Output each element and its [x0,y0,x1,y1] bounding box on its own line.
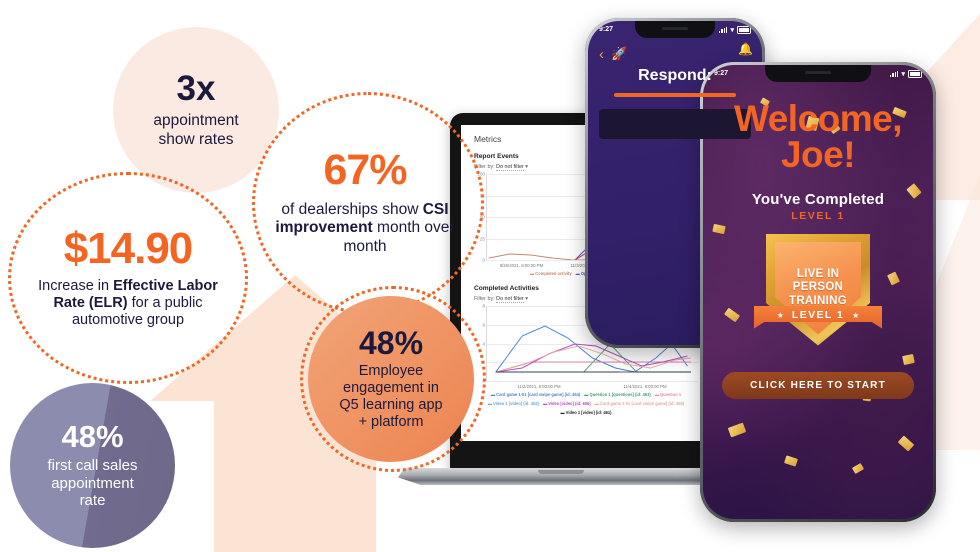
y-tick: 6 [482,322,485,327]
phone-mockup-front: 9:27 ▾ [700,62,936,522]
stat-description: first call sales appointment rate [47,457,137,510]
x-tick: 8/26/2021, 8:00:00 PM [500,263,543,268]
stat-line-4: + platform [339,414,442,431]
y-tick: 8 [482,304,485,309]
status-icons: ▾ [890,70,922,78]
stat-description: of dealerships show CSI improvement mont… [260,201,470,256]
stat-appointment-show-rates: 3x appointment show rates [113,27,279,193]
back-chevron-icon[interactable]: ‹ [599,47,604,62]
filter-label: Filter by: [474,296,495,302]
legend-item: ▬ Completed activity [530,271,572,276]
stat-value: 48% [359,327,423,359]
ribbon-label: LEVEL 1 [792,309,844,321]
infographic-stage: Metrics Report Events Filter by: Do not … [0,0,980,552]
stat-line-1: appointment [153,112,238,130]
series-video-606 [496,344,688,372]
click-here-to-start-button[interactable]: CLICK HERE TO START [722,372,914,399]
wifi-icon: ▾ [901,70,905,78]
battery-icon [908,70,922,78]
completed-text: You've Completed [752,191,884,208]
badge-line-2: PERSON [789,281,847,295]
stat-line-2: engagement in [339,380,442,397]
legend-item: ▬ Question 1 [655,392,681,397]
battery-icon [737,26,751,34]
stat-line-3: Q5 learning app [339,397,442,414]
status-bar: 9:27 ▾ [703,65,933,82]
legend-item: ▬ Video 1 [video] (id: 461) [560,410,611,415]
signal-icon [719,27,728,33]
stat-line-1: Employee [339,363,442,380]
status-time: 9:27 [599,26,613,33]
stat-value: $14.90 [64,227,193,271]
signal-icon [890,71,899,77]
phone-screen-front: 9:27 ▾ [703,65,933,519]
welcome-line-1: Welcome, [734,101,902,137]
wifi-icon: ▾ [730,26,734,34]
achievement-badge[interactable]: LIVE IN PERSON TRAINING ★ LEVEL 1 ★ [766,234,870,346]
series-card-game-455 [496,346,691,372]
stat-line-1: first call sales [47,457,137,475]
y-tick: 4 [482,341,485,346]
status-time: 9:27 [714,70,728,77]
x-tick: 11/2/2021, 8:00:00 PM [517,384,560,389]
welcome-screen: Welcome, Joe! You've Completed LEVEL 1 L… [703,65,933,519]
y-tick: 25 [480,236,485,241]
stat-description: appointment show rates [153,112,238,149]
completed-activities-x-labels: 11/2/2021, 8:00:00 PM 11/4/2021, 8:00:00… [486,384,698,389]
rocket-icon: 🚀 [611,46,627,62]
badge-text: LIVE IN PERSON TRAINING [789,268,847,309]
laptop-notch [538,470,584,474]
stat-line-3: rate [47,492,137,510]
welcome-line-2: Joe! [734,137,902,173]
stat-effective-labor-rate: $14.90 Increase in Effective Labor Rate … [8,172,248,384]
stat-csi-improvement: 67% of dealerships show CSI improvement … [250,95,480,310]
stat-value: 67% [323,149,406,192]
x-tick: 11/4/2021, 8:00:00 PM [623,384,666,389]
stat-employee-engagement: 48% Employee engagement in Q5 learning a… [308,296,474,462]
laptop-base [398,468,723,485]
stat-description: Increase in Effective Labor Rate (ELR) f… [24,278,232,329]
y-tick: 0 [482,258,485,263]
legend-item: ▬ Question 1 [questions] (id: 453) [584,392,650,397]
legend-item: ▬ Card game 1-01 [card swipe game] (id: … [491,392,580,397]
legend-item: ▬ Video [video] (id: 606) [543,401,591,406]
phone-nav-bar: ‹ 🚀 [588,43,762,65]
status-icons: ▾ [719,26,751,34]
star-icon: ★ [852,311,859,320]
stat-text-a: Increase in [38,278,113,294]
stat-line-2: show rates [153,131,238,149]
stat-text-a: of dealerships show [281,201,422,218]
filter-value[interactable]: Do not filter [496,296,524,303]
star-icon: ★ [777,311,784,320]
stat-line-2: appointment [47,475,137,493]
badge-line-1: LIVE IN [789,268,847,282]
status-bar: 9:27 ▾ [588,21,762,38]
legend-item: ▬ Video 1 [video] (id: 452) [488,401,539,406]
welcome-heading: Welcome, Joe! [734,101,902,174]
stat-value: 48% [61,421,123,452]
stat-description: Employee engagement in Q5 learning app +… [339,363,442,431]
legend-item: ▬ Card game 1-01 [card swipe game] (id: … [595,401,684,406]
filter-value[interactable]: Do not filter [496,164,524,171]
level-subtitle: LEVEL 1 [791,210,845,222]
completed-activities-legend: ▬ Card game 1-01 [card swipe game] (id: … [474,392,698,415]
stat-value: 3x [177,71,216,106]
stat-first-call-sales: 48% first call sales appointment rate [10,383,175,548]
